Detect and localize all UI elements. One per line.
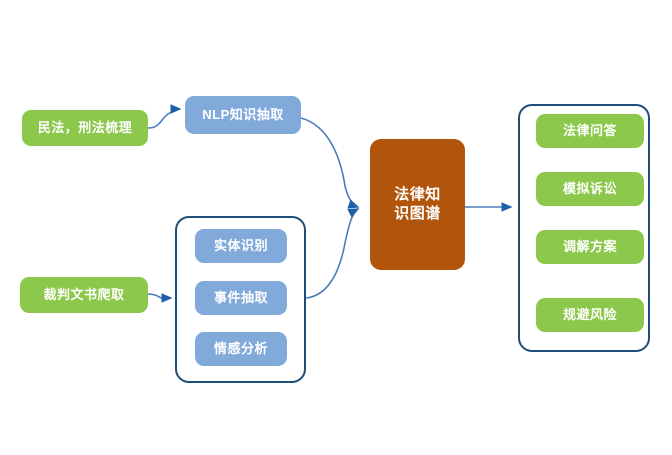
node-mock-litigation[interactable]: 模拟诉讼	[536, 172, 644, 206]
node-legal-kg-line2: 识图谱	[394, 205, 441, 224]
connector-crawl-to-tasks	[148, 294, 171, 299]
connector-tasks-to-kg	[306, 209, 358, 298]
node-legal-kg-line1: 法律知	[394, 186, 441, 205]
node-legal-qa[interactable]: 法律问答	[536, 114, 644, 148]
diagram-canvas: 民法，刑法梳理 裁判文书爬取 NLP知识抽取 实体识别 事件抽取 情感分析 法律…	[0, 0, 672, 455]
node-risk-avoidance[interactable]: 规避风险	[536, 298, 644, 332]
connector-nlp-to-kg	[301, 118, 358, 207]
node-legal-kg[interactable]: 法律知 识图谱	[370, 139, 465, 270]
node-sentiment-analysis[interactable]: 情感分析	[195, 332, 287, 366]
node-entity-recognition[interactable]: 实体识别	[195, 229, 287, 263]
node-civil-criminal-law[interactable]: 民法，刑法梳理	[22, 110, 148, 146]
node-nlp-extraction[interactable]: NLP知识抽取	[185, 96, 301, 134]
node-mediation-plan[interactable]: 调解方案	[536, 230, 644, 264]
connector-civil-to-nlp	[148, 109, 180, 128]
node-event-extraction[interactable]: 事件抽取	[195, 281, 287, 315]
node-judgment-crawl[interactable]: 裁判文书爬取	[20, 277, 148, 313]
